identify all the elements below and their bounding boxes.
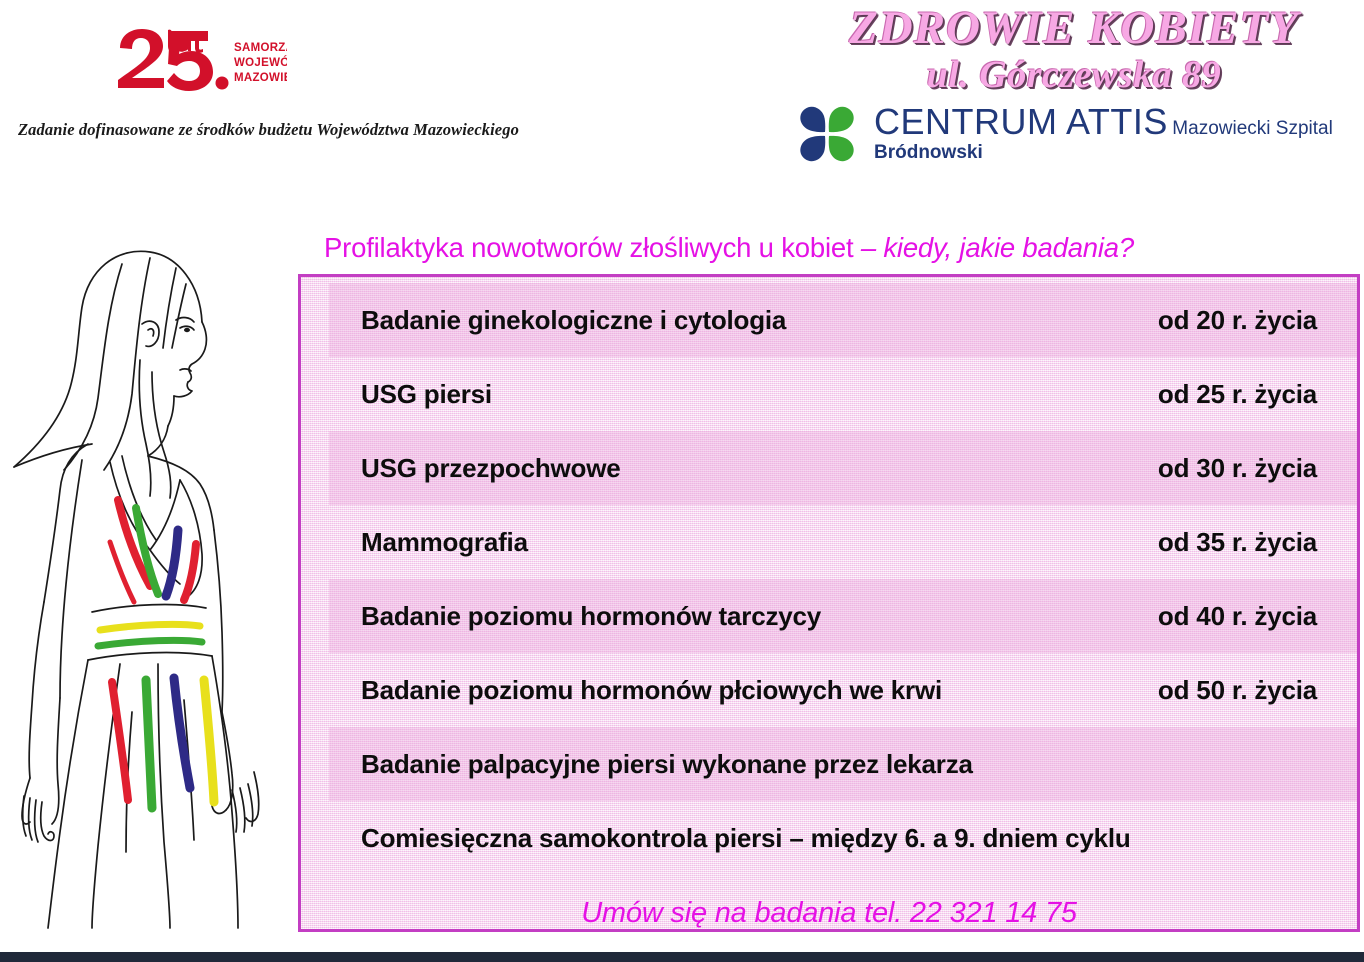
exam-name: Badanie poziomu hormonów płciowych we kr… xyxy=(361,675,942,706)
hospital-name: CENTRUM ATTIS xyxy=(874,101,1168,142)
section-title-italic: – kiedy, jakie badania? xyxy=(861,232,1134,263)
hospital-subtitle-bold: Bródnowski xyxy=(874,142,983,163)
exam-age: od 25 r. życia xyxy=(1158,379,1317,410)
funding-caption: Zadanie dofinasowane ze środków budżetu … xyxy=(18,120,519,140)
appointment-cta: Umów się na badania tel. 22 321 14 75 xyxy=(301,897,1357,930)
woman-profile-illustration xyxy=(0,212,290,932)
main-content: Profilaktyka nowotworów złośliwych u kob… xyxy=(0,200,1364,952)
exam-age: od 50 r. życia xyxy=(1158,675,1317,706)
exam-name: Badanie poziomu hormonów tarczycy xyxy=(361,601,821,632)
exams-panel: Badanie ginekologiczne i cytologia od 20… xyxy=(298,274,1360,932)
content-column: Profilaktyka nowotworów złośliwych u kob… xyxy=(298,232,1360,932)
campaign-header-block: ZDROWIE KOBIETY ul. Górczewska 89 CENTRU… xyxy=(794,4,1354,165)
exam-age: od 20 r. życia xyxy=(1158,305,1317,336)
exam-name: USG piersi xyxy=(361,379,492,410)
campaign-title: ZDROWIE KOBIETY xyxy=(794,4,1354,53)
table-row: Badanie ginekologiczne i cytologia od 20… xyxy=(329,283,1357,357)
logo-line-3: MAZOWIECKIEGO xyxy=(234,72,287,84)
exams-table: Badanie ginekologiczne i cytologia od 20… xyxy=(329,283,1357,875)
table-row: Badanie poziomu hormonów płciowych we kr… xyxy=(329,653,1357,727)
mazowieckie-25-years-logo: SAMORZĄDU WOJEWÓDZTWA MAZOWIECKIEGO xyxy=(112,26,287,92)
exam-name: USG przezpochwowe xyxy=(361,453,621,484)
logo-line-1: SAMORZĄDU xyxy=(234,42,287,54)
exam-age: od 30 r. życia xyxy=(1158,453,1317,484)
table-row: Badanie poziomu hormonów tarczycy od 40 … xyxy=(329,579,1357,653)
campaign-address: ul. Górczewska 89 xyxy=(794,55,1354,97)
section-title-plain: Profilaktyka nowotworów złośliwych u kob… xyxy=(324,232,861,263)
hospital-logo: CENTRUM ATTIS Mazowiecki Szpital Bródnow… xyxy=(794,103,1354,165)
clover-icon xyxy=(794,103,862,165)
exam-age: od 35 r. życia xyxy=(1158,527,1317,558)
hospital-subtitle-normal: Mazowiecki Szpital xyxy=(1172,118,1333,139)
exam-age: od 40 r. życia xyxy=(1158,601,1317,632)
table-row: Mammografia od 35 r. życia xyxy=(329,505,1357,579)
table-row: USG piersi od 25 r. życia xyxy=(329,357,1357,431)
exam-name: Badanie palpacyjne piersi wykonane przez… xyxy=(361,749,973,780)
exam-name: Mammografia xyxy=(361,527,528,558)
exam-name: Badanie ginekologiczne i cytologia xyxy=(361,305,786,336)
table-row: Comiesięczna samokontrola piersi – międz… xyxy=(329,801,1357,875)
exam-name: Comiesięczna samokontrola piersi – międz… xyxy=(361,823,1131,854)
bottom-bar xyxy=(0,952,1364,962)
page-header: SAMORZĄDU WOJEWÓDZTWA MAZOWIECKIEGO Zada… xyxy=(0,0,1364,200)
section-title: Profilaktyka nowotworów złośliwych u kob… xyxy=(298,232,1360,264)
table-row: USG przezpochwowe od 30 r. życia xyxy=(329,431,1357,505)
logo-line-2: WOJEWÓDZTWA xyxy=(234,56,287,69)
table-row: Badanie palpacyjne piersi wykonane przez… xyxy=(329,727,1357,801)
